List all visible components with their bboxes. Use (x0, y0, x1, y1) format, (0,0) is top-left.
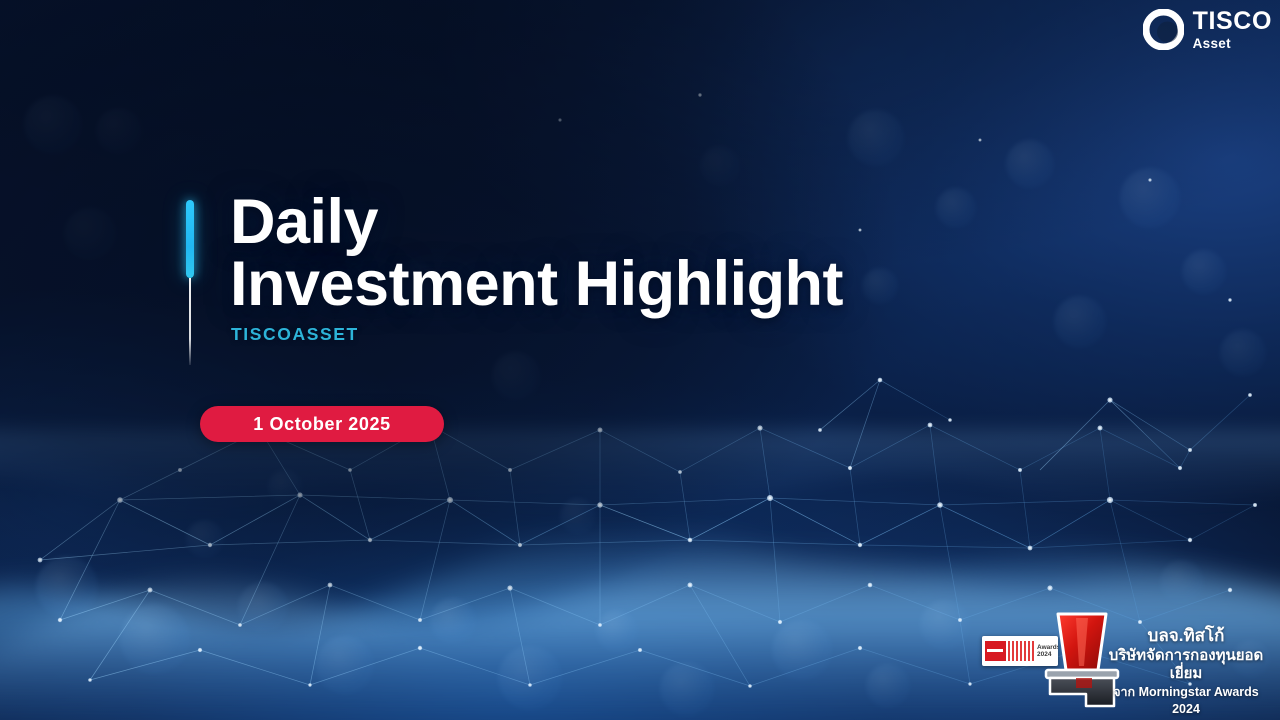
award-text: บลจ.ทิสโก้ บริษัทจัดการกองทุนยอดเยี่ยม จ… (1098, 626, 1274, 717)
page-title-line-2: Investment Highlight (230, 254, 1086, 316)
vertical-accent-bar-icon (186, 200, 194, 365)
subtitle-brand: TISCOASSET (186, 324, 1086, 345)
brand-descriptor: Asset (1193, 37, 1231, 51)
brand-name: TISCO (1193, 9, 1272, 34)
page-title: Daily Investment Highlight (186, 192, 1086, 315)
slide-canvas: TISCO Asset Daily Investment Highlight T… (0, 0, 1280, 720)
date-badge: 1 October 2025 (200, 406, 444, 442)
award-badge: Awards 2024 (980, 604, 1274, 716)
award-text-line-1: บลจ.ทิสโก้ (1098, 626, 1274, 647)
morningstar-bars-icon (1008, 641, 1034, 661)
page-title-line-1: Daily (230, 192, 1086, 254)
tisco-ring-icon (1143, 9, 1184, 50)
award-text-line-2: บริษัทจัดการกองทุนยอดเยี่ยม (1098, 647, 1274, 684)
award-text-line-3: จาก Morningstar Awards 2024 (1098, 684, 1274, 717)
title-block: Daily Investment Highlight TISCOASSET (186, 192, 1086, 345)
tisco-wordmark: TISCO Asset (1193, 9, 1272, 51)
tisco-asset-logo: TISCO Asset (1143, 9, 1272, 51)
morningstar-mark-icon (985, 641, 1006, 661)
